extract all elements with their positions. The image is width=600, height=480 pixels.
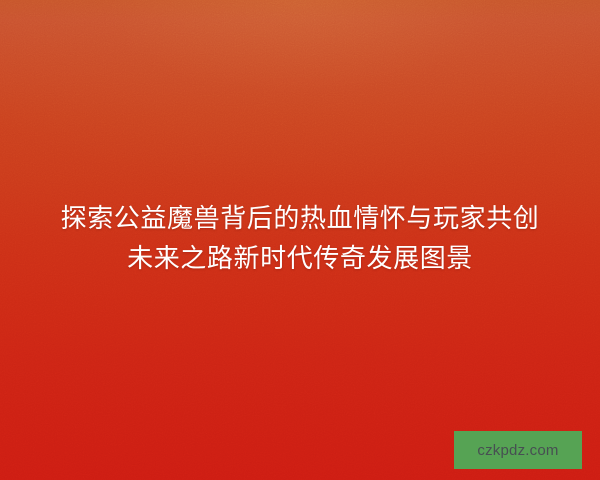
watermark-badge[interactable]: czkpdz.com bbox=[454, 431, 582, 469]
cover-title-line-2: 未来之路新时代传奇发展图景 bbox=[18, 238, 582, 278]
watermark-label: czkpdz.com bbox=[477, 443, 558, 458]
cover-image: 探索公益魔兽背后的热血情怀与玩家共创 未来之路新时代传奇发展图景 czkpdz.… bbox=[0, 0, 600, 480]
cover-title-line-1: 探索公益魔兽背后的热血情怀与玩家共创 bbox=[18, 198, 582, 238]
cover-title: 探索公益魔兽背后的热血情怀与玩家共创 未来之路新时代传奇发展图景 bbox=[0, 198, 600, 278]
